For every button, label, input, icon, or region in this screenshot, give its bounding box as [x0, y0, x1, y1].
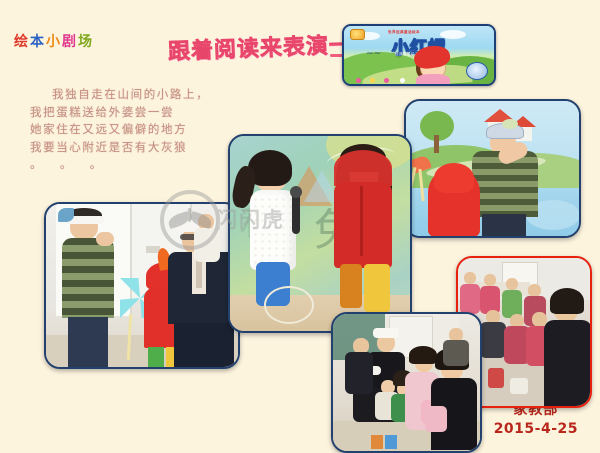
audience-head [484, 274, 496, 286]
poem-trailing-dots: 。 。 。 [30, 156, 209, 174]
headband-leaf-decor [502, 119, 518, 129]
girl-right-skirt [340, 264, 362, 308]
girl-right-red-hood [334, 150, 392, 186]
photo-wolf-sleeping[interactable] [404, 99, 581, 238]
parent-hair [409, 346, 437, 364]
microphone-head [290, 186, 302, 198]
photo-audience-front[interactable] [331, 312, 482, 453]
hoop-prop [264, 286, 314, 324]
red-riding-hood-illustration [412, 46, 460, 86]
kid-stool [371, 435, 383, 449]
girl-right-leggings [364, 264, 390, 312]
audience-body [480, 322, 506, 358]
flower-icon [356, 78, 361, 83]
microphone-prop [292, 192, 300, 234]
child-red-hood [434, 163, 474, 193]
adult-left-jeans [68, 317, 108, 367]
kid-stool [385, 435, 397, 449]
poem-line-2: 我把蛋糕送给外婆尝一尝 [30, 104, 209, 122]
photo-content [333, 314, 480, 451]
publisher-seal-icon [350, 29, 365, 40]
child-clothing [488, 368, 504, 388]
background-person-body [443, 340, 469, 366]
audience-body [460, 284, 480, 314]
brand-title-char-1: 本 [30, 31, 46, 51]
foreground-person-hair [550, 288, 584, 314]
brand-title-char-4: 场 [78, 31, 94, 51]
coat-placket [360, 186, 363, 256]
poem-line-4: 我要当心附近是否有大灰狼 [30, 139, 209, 157]
adult-trousers [482, 214, 526, 236]
adult-left-striped-shirt [62, 238, 114, 318]
brand-title-char-3: 剧 [62, 31, 78, 51]
headband-prop [373, 328, 399, 338]
poem-block: 我独自走在山间的小路上， 我把蛋糕送给外婆尝一尝 她家住在又远又偏僻的地方 我要… [30, 86, 209, 174]
child-leggings [148, 347, 164, 367]
poster-canvas: 绘本小剧场 跟着阅读来表演一 我独自走在山间的小路上， 我把蛋糕送给外婆尝一尝 … [0, 0, 600, 451]
audience-body [345, 352, 373, 394]
brand-title-char-0: 绘 [14, 31, 30, 51]
poem-line-3: 她家住在又远又偏僻的地方 [30, 121, 209, 139]
flower-icon [370, 78, 375, 83]
stool-prop [510, 378, 528, 394]
book-cover-badge: 世界经典童话绘本 小红帽 经典童话绘本故事系列丛书 ~~ [342, 24, 496, 86]
brand-title: 绘本小剧场 [14, 31, 94, 51]
page-title: 跟着阅读来表演一 [167, 27, 352, 66]
flower-icon [384, 78, 389, 83]
foreground-person-body [544, 320, 590, 406]
audience-head [464, 272, 476, 284]
adult-right-trousers [174, 323, 234, 367]
headband-ear-decor [58, 208, 74, 222]
photo-stage-girls[interactable]: 兔 和 [228, 134, 412, 333]
mural-tree-trunk [434, 135, 439, 153]
photo-content [406, 101, 579, 236]
brand-title-char-2: 小 [46, 31, 62, 51]
date-label: 2015-4-25 [494, 420, 578, 439]
flower-icon [400, 78, 405, 83]
girl-right-red-coat [334, 182, 392, 268]
girl-left-top-pattern [252, 196, 294, 266]
dress-shape [416, 74, 450, 86]
photo-content: 兔 和 [230, 136, 410, 331]
toddler-on-lap [425, 406, 447, 432]
award-medal-icon [466, 62, 488, 80]
poem-line-1: 我独自走在山间的小路上， [30, 86, 209, 104]
photo-parent-child-play[interactable] [44, 202, 240, 369]
photo-content [46, 204, 238, 367]
audience-head [506, 278, 518, 290]
adult-left-hand [96, 232, 114, 246]
bird-icon: ~~ [366, 50, 384, 60]
background-person-body [194, 228, 220, 262]
